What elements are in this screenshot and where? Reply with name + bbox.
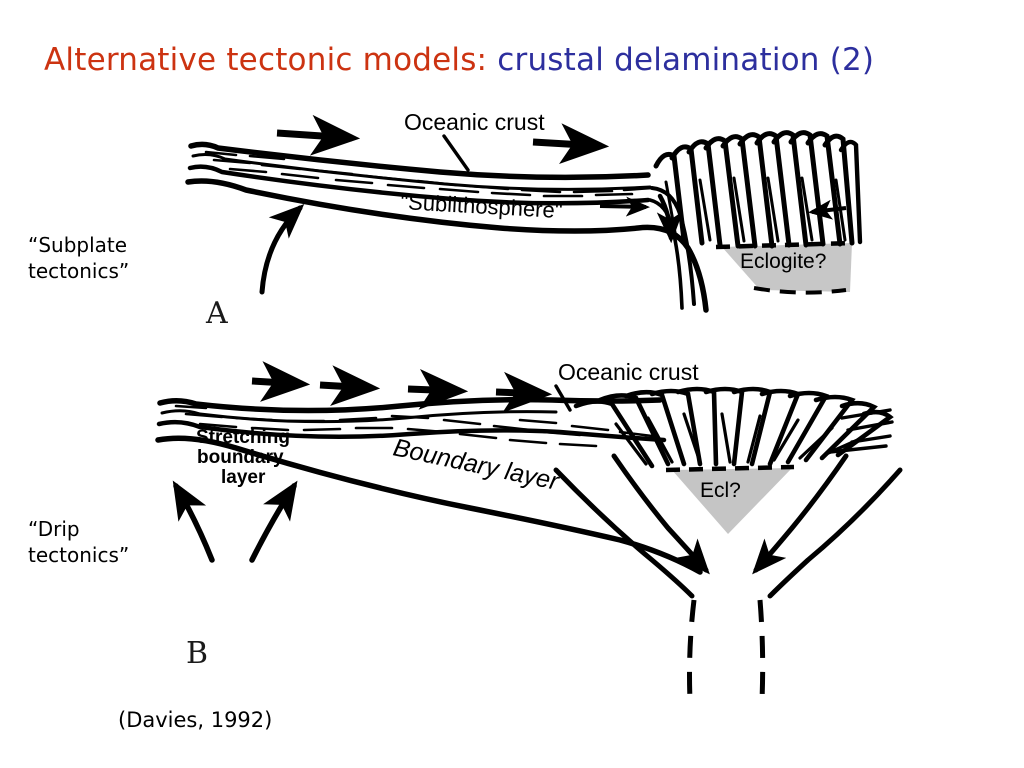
panel-b-drip-tail-left [690, 600, 695, 700]
panel-a-label-oceanic-crust: Oceanic crust [404, 109, 545, 135]
panel-a-upwelling-arrow [262, 208, 300, 292]
panel-b-motion-arrow-2 [320, 385, 372, 388]
panel-b-motion-arrow-3 [408, 389, 460, 391]
panel-b-label-stretching-line3: layer [221, 467, 266, 488]
panel-b-motion-arrow-4 [496, 392, 544, 394]
panel-b-label-stretching-line2: boundary [197, 447, 284, 468]
panel-a-motion-arrow-1 [277, 133, 352, 138]
tectonic-diagram: Oceanic crust "Sublithosphere" Eclogite? [0, 0, 1024, 768]
panel-b-label-eclogite-short: Ecl? [700, 479, 741, 502]
panel-b-drip-tail-right [760, 600, 763, 700]
panel-b-stretch-arrow-left [176, 486, 212, 560]
panel-a-oceanic-crust-leader [444, 136, 468, 170]
panel-b-figure: Oceanic crust Boundary layer Stretching … [158, 359, 900, 700]
panel-a-thickened-crust-hachure [656, 133, 860, 246]
panel-b-label-stretching-line1: Stretching [196, 427, 290, 448]
panel-a-motion-arrow-2 [533, 142, 601, 146]
panel-b-label-oceanic-crust: Oceanic crust [558, 359, 699, 385]
panel-b-stretch-arrow-right [252, 486, 294, 560]
panel-a-sublith-flow-arrow [600, 206, 646, 207]
panel-b-motion-arrow-1 [252, 381, 302, 384]
panel-a-label-eclogite: Eclogite? [740, 250, 826, 273]
panel-a-figure: Oceanic crust "Sublithosphere" Eclogite? [188, 109, 860, 310]
